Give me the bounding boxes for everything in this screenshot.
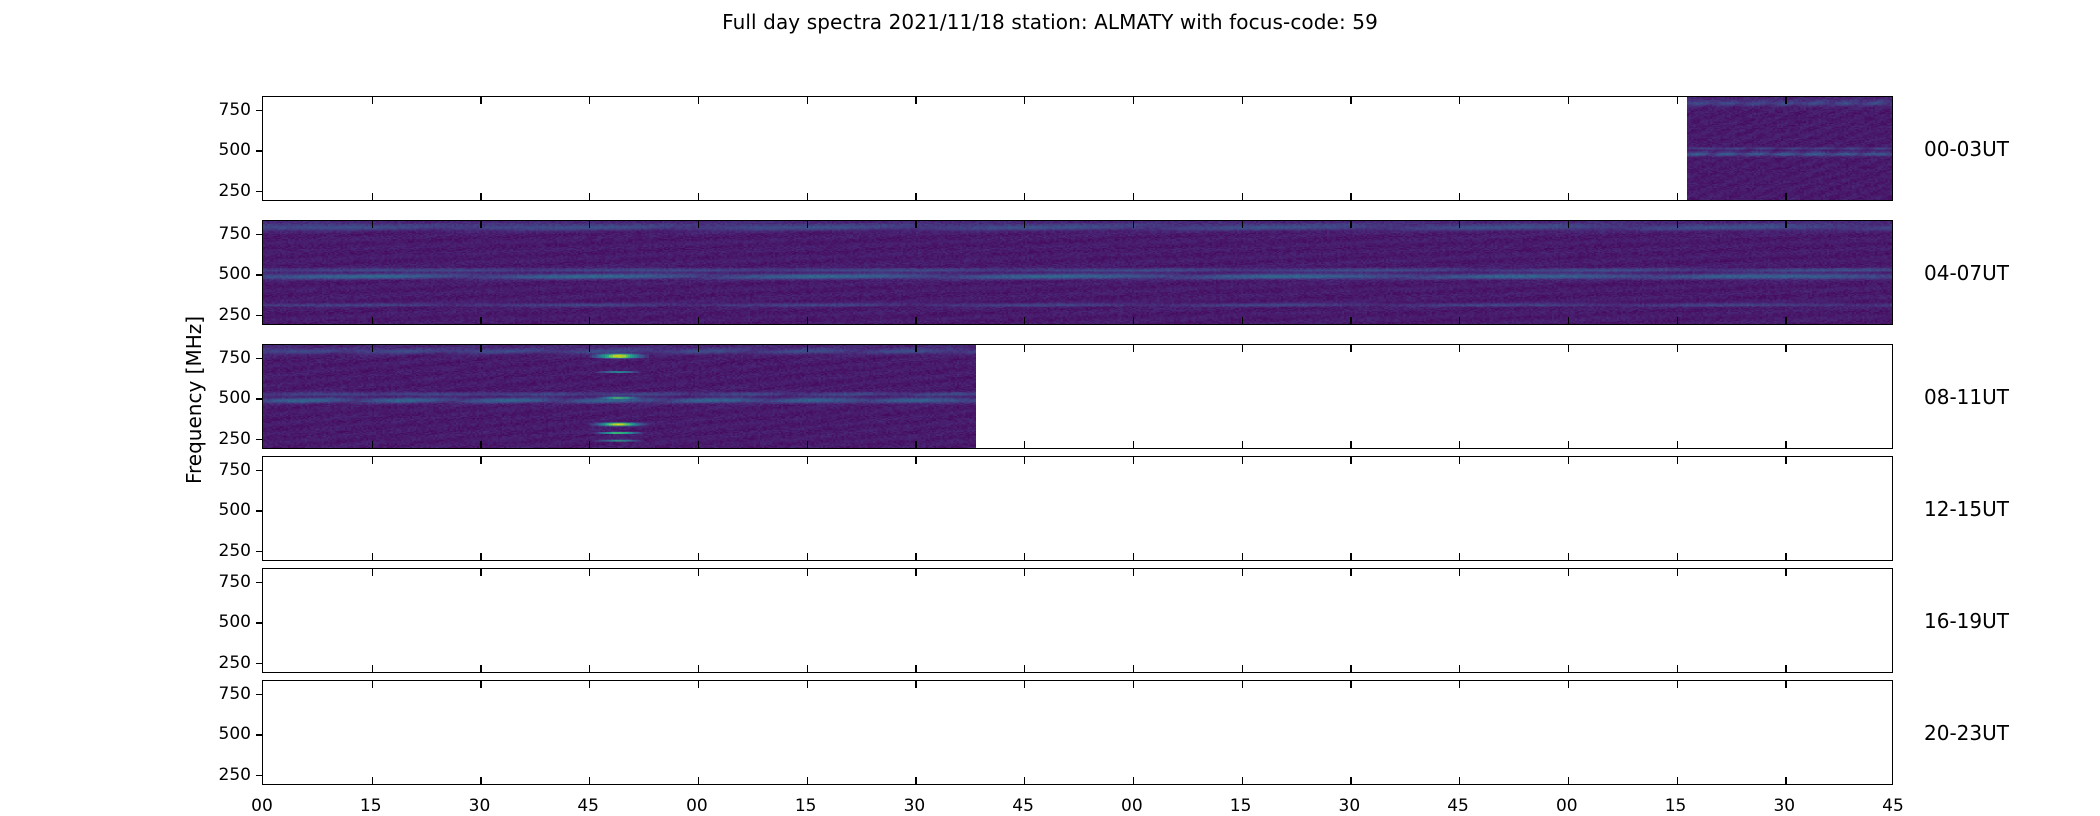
spectrogram-image bbox=[263, 569, 1892, 672]
x-tick-mark bbox=[480, 193, 481, 200]
x-tick-mark bbox=[1785, 193, 1786, 200]
x-tick-label: 30 bbox=[904, 796, 926, 816]
x-tick-mark bbox=[1677, 221, 1678, 228]
y-tick-label: 250 bbox=[219, 305, 251, 325]
x-tick-label: 00 bbox=[1121, 796, 1143, 816]
x-tick-label: 45 bbox=[1882, 796, 1904, 816]
x-tick-mark bbox=[1568, 569, 1569, 576]
x-tick-mark bbox=[1785, 97, 1786, 104]
x-tick-mark bbox=[807, 681, 808, 688]
x-tick-mark bbox=[807, 777, 808, 784]
x-tick-mark bbox=[1785, 457, 1786, 464]
x-tick-mark bbox=[807, 97, 808, 104]
x-tick-mark bbox=[480, 777, 481, 784]
x-tick-label: 15 bbox=[1665, 796, 1687, 816]
x-tick-mark bbox=[1242, 317, 1243, 324]
x-tick-mark bbox=[1024, 665, 1025, 672]
x-tick-mark bbox=[480, 441, 481, 448]
spectrogram-row-20-23ut[interactable]: 750500250 bbox=[262, 680, 1893, 785]
x-tick-mark bbox=[372, 193, 373, 200]
row-label-12-15ut: 12-15UT bbox=[1924, 497, 2009, 521]
y-tick-mark bbox=[256, 274, 263, 275]
x-tick-mark bbox=[1242, 665, 1243, 672]
y-tick-label: 250 bbox=[219, 653, 251, 673]
x-tick-mark bbox=[589, 345, 590, 352]
spectrogram-row-04-07ut[interactable]: 750500250 bbox=[262, 220, 1893, 325]
x-tick-mark bbox=[698, 777, 699, 784]
spectrogram-row-08-11ut[interactable]: 750500250 bbox=[262, 344, 1893, 449]
y-tick-mark bbox=[256, 191, 263, 192]
x-tick-mark bbox=[1459, 665, 1460, 672]
x-tick-mark bbox=[1133, 97, 1134, 104]
x-tick-mark bbox=[480, 221, 481, 228]
x-tick-mark bbox=[698, 221, 699, 228]
x-tick-mark bbox=[1677, 457, 1678, 464]
x-tick-label: 30 bbox=[469, 796, 491, 816]
x-tick-mark bbox=[1242, 681, 1243, 688]
x-tick-mark bbox=[1677, 317, 1678, 324]
y-tick-mark bbox=[256, 734, 263, 735]
x-tick-mark bbox=[1350, 777, 1351, 784]
spectrogram-image bbox=[263, 681, 1892, 784]
x-tick-mark bbox=[915, 457, 916, 464]
x-tick-mark bbox=[698, 457, 699, 464]
x-tick-mark bbox=[1024, 681, 1025, 688]
x-tick-mark bbox=[915, 317, 916, 324]
x-tick-label: 15 bbox=[360, 796, 382, 816]
y-tick-mark bbox=[256, 439, 263, 440]
x-tick-mark bbox=[1677, 665, 1678, 672]
y-tick-label: 250 bbox=[219, 765, 251, 785]
x-tick-mark bbox=[915, 553, 916, 560]
row-label-00-03ut: 00-03UT bbox=[1924, 137, 2009, 161]
x-tick-mark bbox=[372, 569, 373, 576]
y-tick-label: 500 bbox=[219, 612, 251, 632]
x-tick-mark bbox=[1242, 193, 1243, 200]
x-tick-mark bbox=[1350, 193, 1351, 200]
x-tick-mark bbox=[1568, 665, 1569, 672]
spectrogram-figure: Full day spectra 2021/11/18 station: ALM… bbox=[0, 0, 2100, 800]
y-tick-mark bbox=[256, 582, 263, 583]
y-tick-label: 500 bbox=[219, 388, 251, 408]
x-tick-mark bbox=[1133, 665, 1134, 672]
x-tick-mark bbox=[1024, 777, 1025, 784]
x-tick-mark bbox=[915, 681, 916, 688]
x-tick-mark bbox=[698, 193, 699, 200]
x-tick-mark bbox=[1024, 97, 1025, 104]
x-tick-mark bbox=[1459, 317, 1460, 324]
x-tick-mark bbox=[915, 665, 916, 672]
x-tick-mark bbox=[480, 97, 481, 104]
x-tick-mark bbox=[1785, 777, 1786, 784]
x-tick-mark bbox=[1785, 317, 1786, 324]
x-tick-mark bbox=[1568, 553, 1569, 560]
x-tick-mark bbox=[1568, 193, 1569, 200]
x-tick-label: 15 bbox=[795, 796, 817, 816]
y-tick-mark bbox=[256, 694, 263, 695]
x-tick-mark bbox=[915, 221, 916, 228]
x-tick-mark bbox=[1242, 553, 1243, 560]
x-tick-mark bbox=[1133, 569, 1134, 576]
y-tick-label: 750 bbox=[219, 100, 251, 120]
spectrogram-row-00-03ut[interactable]: 750500250 bbox=[262, 96, 1893, 201]
y-tick-label: 750 bbox=[219, 224, 251, 244]
spectrogram-image bbox=[263, 97, 1892, 200]
x-tick-mark bbox=[698, 97, 699, 104]
spectrogram-image bbox=[263, 457, 1892, 560]
x-tick-mark bbox=[589, 193, 590, 200]
x-tick-mark bbox=[807, 345, 808, 352]
x-tick-mark bbox=[1568, 681, 1569, 688]
x-tick-mark bbox=[372, 681, 373, 688]
x-tick-label: 45 bbox=[1447, 796, 1469, 816]
x-tick-mark bbox=[1459, 441, 1460, 448]
x-tick-mark bbox=[1677, 569, 1678, 576]
x-tick-mark bbox=[1133, 553, 1134, 560]
x-tick-mark bbox=[1677, 777, 1678, 784]
x-tick-mark bbox=[1459, 569, 1460, 576]
x-tick-label: 30 bbox=[1773, 796, 1795, 816]
x-tick-mark bbox=[589, 221, 590, 228]
x-tick-mark bbox=[1133, 441, 1134, 448]
x-tick-mark bbox=[807, 553, 808, 560]
x-tick-mark bbox=[698, 317, 699, 324]
x-tick-mark bbox=[480, 681, 481, 688]
x-tick-mark bbox=[698, 569, 699, 576]
x-tick-mark bbox=[1024, 569, 1025, 576]
x-tick-mark bbox=[1242, 569, 1243, 576]
x-tick-mark bbox=[589, 441, 590, 448]
x-tick-mark bbox=[1350, 345, 1351, 352]
x-tick-mark bbox=[1677, 345, 1678, 352]
y-tick-label: 250 bbox=[219, 541, 251, 561]
x-tick-mark bbox=[1133, 345, 1134, 352]
y-tick-mark bbox=[256, 622, 263, 623]
x-tick-mark bbox=[1459, 193, 1460, 200]
x-tick-mark bbox=[915, 777, 916, 784]
x-tick-mark bbox=[1459, 553, 1460, 560]
x-tick-mark bbox=[915, 193, 916, 200]
y-tick-label: 500 bbox=[219, 724, 251, 744]
y-tick-mark bbox=[256, 234, 263, 235]
x-tick-mark bbox=[480, 457, 481, 464]
x-tick-mark bbox=[1568, 317, 1569, 324]
x-tick-mark bbox=[1242, 221, 1243, 228]
x-tick-mark bbox=[915, 569, 916, 576]
spectrogram-row-16-19ut[interactable]: 750500250 bbox=[262, 568, 1893, 673]
x-tick-mark bbox=[1785, 345, 1786, 352]
y-tick-label: 500 bbox=[219, 140, 251, 160]
x-tick-mark bbox=[1785, 221, 1786, 228]
y-tick-mark bbox=[256, 315, 263, 316]
x-tick-mark bbox=[1024, 553, 1025, 560]
y-tick-label: 500 bbox=[219, 264, 251, 284]
x-tick-mark bbox=[807, 221, 808, 228]
x-tick-mark bbox=[698, 441, 699, 448]
spectrogram-row-12-15ut[interactable]: 750500250 bbox=[262, 456, 1893, 561]
x-tick-mark bbox=[1350, 97, 1351, 104]
x-tick-label: 30 bbox=[1339, 796, 1361, 816]
x-tick-mark bbox=[480, 665, 481, 672]
x-tick-mark bbox=[1677, 681, 1678, 688]
y-tick-mark bbox=[256, 110, 263, 111]
x-tick-label: 45 bbox=[1012, 796, 1034, 816]
x-tick-mark bbox=[698, 681, 699, 688]
x-tick-mark bbox=[372, 441, 373, 448]
x-tick-label: 00 bbox=[686, 796, 708, 816]
y-tick-label: 750 bbox=[219, 460, 251, 480]
y-tick-label: 750 bbox=[219, 348, 251, 368]
x-tick-mark bbox=[589, 777, 590, 784]
x-tick-mark bbox=[1133, 317, 1134, 324]
y-tick-label: 250 bbox=[219, 181, 251, 201]
row-label-08-11ut: 08-11UT bbox=[1924, 385, 2009, 409]
x-tick-mark bbox=[1459, 777, 1460, 784]
x-tick-mark bbox=[807, 457, 808, 464]
x-tick-mark bbox=[1242, 777, 1243, 784]
x-tick-mark bbox=[1242, 457, 1243, 464]
x-tick-mark bbox=[1785, 553, 1786, 560]
y-tick-mark bbox=[256, 150, 263, 151]
x-tick-mark bbox=[1785, 665, 1786, 672]
y-tick-label: 500 bbox=[219, 500, 251, 520]
x-tick-mark bbox=[1677, 553, 1678, 560]
x-tick-mark bbox=[1024, 457, 1025, 464]
x-tick-label: 15 bbox=[1230, 796, 1252, 816]
x-tick-mark bbox=[698, 553, 699, 560]
x-tick-mark bbox=[1242, 97, 1243, 104]
x-tick-mark bbox=[1133, 457, 1134, 464]
x-tick-mark bbox=[807, 317, 808, 324]
page-title: Full day spectra 2021/11/18 station: ALM… bbox=[0, 10, 2100, 34]
x-tick-mark bbox=[1677, 193, 1678, 200]
x-tick-mark bbox=[1350, 569, 1351, 576]
x-tick-mark bbox=[589, 569, 590, 576]
x-tick-mark bbox=[1568, 97, 1569, 104]
x-tick-mark bbox=[372, 553, 373, 560]
x-tick-mark bbox=[915, 441, 916, 448]
x-tick-mark bbox=[1350, 665, 1351, 672]
x-tick-mark bbox=[1568, 777, 1569, 784]
x-tick-mark bbox=[915, 97, 916, 104]
x-tick-mark bbox=[1242, 345, 1243, 352]
x-tick-mark bbox=[480, 569, 481, 576]
y-tick-label: 250 bbox=[219, 429, 251, 449]
y-tick-mark bbox=[256, 775, 263, 776]
x-tick-mark bbox=[589, 681, 590, 688]
x-tick-mark bbox=[1785, 569, 1786, 576]
x-tick-mark bbox=[1350, 681, 1351, 688]
x-tick-mark bbox=[1350, 317, 1351, 324]
y-tick-label: 750 bbox=[219, 572, 251, 592]
x-tick-mark bbox=[1568, 345, 1569, 352]
x-tick-mark bbox=[1133, 777, 1134, 784]
x-tick-mark bbox=[372, 221, 373, 228]
x-tick-mark bbox=[1350, 553, 1351, 560]
x-tick-mark bbox=[372, 345, 373, 352]
row-label-04-07ut: 04-07UT bbox=[1924, 261, 2009, 285]
x-tick-mark bbox=[698, 665, 699, 672]
x-tick-mark bbox=[1024, 193, 1025, 200]
x-tick-mark bbox=[1568, 221, 1569, 228]
x-tick-mark bbox=[1350, 221, 1351, 228]
y-tick-mark bbox=[256, 398, 263, 399]
x-tick-mark bbox=[1459, 457, 1460, 464]
x-tick-mark bbox=[1459, 97, 1460, 104]
x-tick-mark bbox=[372, 457, 373, 464]
x-tick-mark bbox=[1785, 441, 1786, 448]
x-tick-label: 45 bbox=[577, 796, 599, 816]
x-tick-mark bbox=[372, 777, 373, 784]
x-tick-label: 00 bbox=[1556, 796, 1578, 816]
x-tick-mark bbox=[1677, 441, 1678, 448]
y-tick-mark bbox=[256, 470, 263, 471]
x-tick-mark bbox=[1350, 457, 1351, 464]
x-tick-mark bbox=[1133, 193, 1134, 200]
y-tick-label: 750 bbox=[219, 684, 251, 704]
x-tick-label: 00 bbox=[251, 796, 273, 816]
x-tick-mark bbox=[1133, 221, 1134, 228]
x-tick-mark bbox=[1785, 681, 1786, 688]
x-tick-mark bbox=[1568, 441, 1569, 448]
x-tick-mark bbox=[1024, 317, 1025, 324]
x-tick-mark bbox=[1459, 221, 1460, 228]
x-tick-mark bbox=[589, 97, 590, 104]
x-tick-mark bbox=[698, 345, 699, 352]
x-tick-mark bbox=[1677, 97, 1678, 104]
x-tick-mark bbox=[1024, 441, 1025, 448]
y-tick-mark bbox=[256, 551, 263, 552]
x-tick-mark bbox=[807, 569, 808, 576]
x-tick-mark bbox=[915, 345, 916, 352]
x-tick-mark bbox=[1024, 345, 1025, 352]
x-tick-mark bbox=[480, 553, 481, 560]
x-tick-mark bbox=[1568, 457, 1569, 464]
x-tick-mark bbox=[1350, 441, 1351, 448]
x-tick-mark bbox=[1459, 345, 1460, 352]
y-tick-mark bbox=[256, 663, 263, 664]
x-tick-mark bbox=[1242, 441, 1243, 448]
x-tick-mark bbox=[589, 553, 590, 560]
x-tick-mark bbox=[589, 665, 590, 672]
row-label-16-19ut: 16-19UT bbox=[1924, 609, 2009, 633]
y-tick-mark bbox=[256, 510, 263, 511]
spectrogram-image bbox=[263, 345, 1892, 448]
x-tick-mark bbox=[480, 317, 481, 324]
x-tick-mark bbox=[807, 193, 808, 200]
x-tick-mark bbox=[1133, 681, 1134, 688]
row-label-20-23ut: 20-23UT bbox=[1924, 721, 2009, 745]
x-tick-mark bbox=[372, 665, 373, 672]
x-tick-mark bbox=[589, 457, 590, 464]
x-tick-mark bbox=[372, 97, 373, 104]
x-tick-mark bbox=[807, 441, 808, 448]
y-tick-mark bbox=[256, 358, 263, 359]
y-axis-label: Frequency [MHz] bbox=[182, 316, 206, 484]
x-tick-mark bbox=[372, 317, 373, 324]
x-tick-mark bbox=[480, 345, 481, 352]
x-tick-mark bbox=[1024, 221, 1025, 228]
x-tick-mark bbox=[1459, 681, 1460, 688]
spectrogram-image bbox=[263, 221, 1892, 324]
x-tick-mark bbox=[807, 665, 808, 672]
x-tick-mark bbox=[589, 317, 590, 324]
